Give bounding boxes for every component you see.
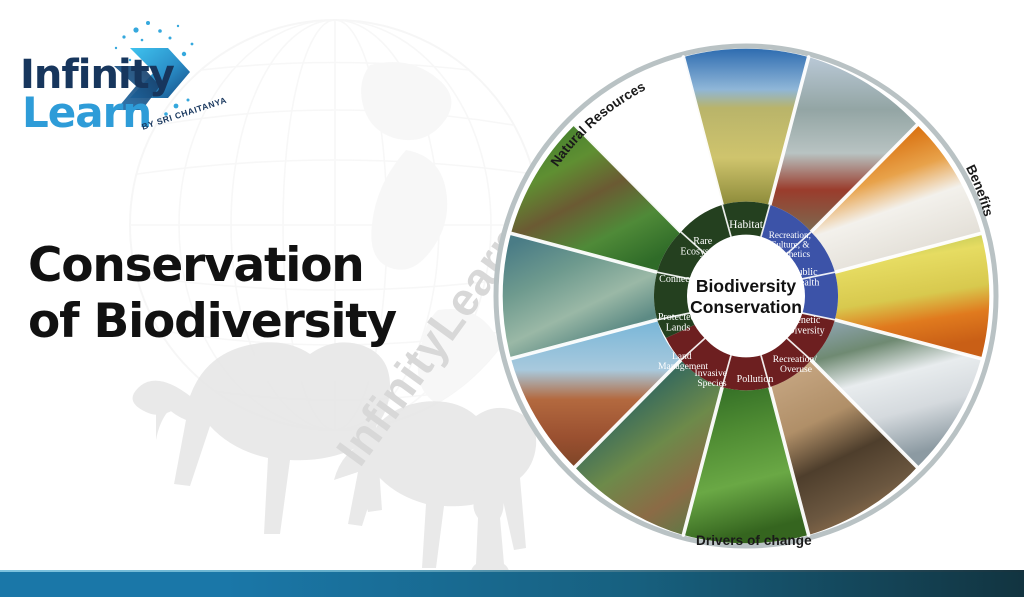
- page-title: Conservation of Biodiversity: [28, 238, 468, 351]
- center-label-line2: Conservation: [690, 297, 802, 317]
- bottom-bar-hairline: [0, 570, 1024, 572]
- label-recreation-culture-aesthetics: Recreation, Culture, & Aesthetics: [769, 230, 813, 259]
- label-genetic-diversity: Genetic Diversity: [787, 315, 824, 337]
- center-label-line1: Biodiversity: [696, 276, 796, 296]
- bottom-bar-fill: [0, 570, 1024, 597]
- label-public-health: Public Health: [792, 267, 820, 289]
- caption-drivers-of-change: Drivers of change: [696, 533, 812, 548]
- label-pollution: Pollution: [737, 374, 774, 385]
- logo-text-learn: Learn: [22, 88, 151, 137]
- wheel-center-label: Biodiversity Conservation: [690, 276, 802, 317]
- bottom-accent-bar: [0, 570, 1024, 597]
- label-habitat: Habitat: [729, 219, 764, 231]
- slide-canvas: InfinityLearn: [0, 0, 1024, 597]
- biodiversity-conservation-wheel: Habitat Recreation, Culture, & Aesthetic…: [486, 32, 1006, 560]
- infinity-learn-logo[interactable]: Infinity Learn BY SRI CHAITANYA: [18, 14, 238, 139]
